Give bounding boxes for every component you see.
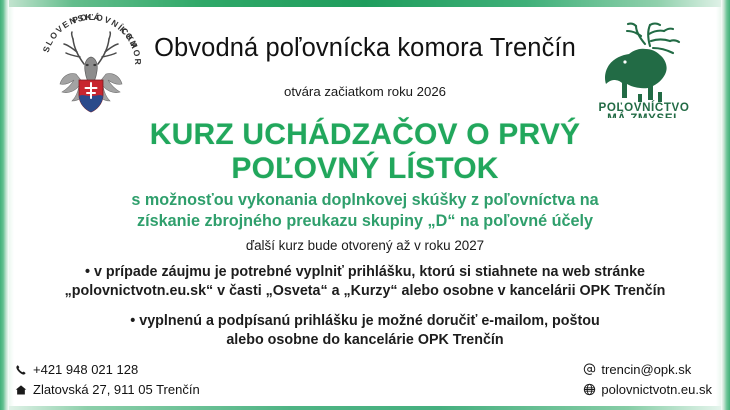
- bullet-1-line-1: • v prípade záujmu je potrebné vyplniť p…: [14, 263, 716, 282]
- polovnictvo-ma-zmysel-logo: POĽOVNÍCTVO MÁ ZMYSEL: [584, 14, 704, 118]
- headline-line-1: KURZ UCHÁDZAČOV O PRVÝ: [150, 118, 581, 151]
- organization-title: Obvodná poľovnícka komora Trenčín: [0, 34, 730, 62]
- slovak-hunting-chamber-logo: SLOVENSKÁ POĽOVNÍCKA KOMORA: [32, 12, 150, 116]
- bullet-2-line-1: • vyplnenú a podpísanú prihlášku je možn…: [14, 312, 716, 331]
- organization-subtitle: otvára začiatkom roku 2026: [0, 84, 730, 99]
- next-course-notice: ďalší kurz bude otvorený až v roku 2027: [0, 238, 730, 253]
- headline: KURZ UCHÁDZAČOV O PRVÝ POĽOVNÝ LÍSTOK: [0, 118, 730, 186]
- home-icon: [14, 383, 28, 397]
- bullet-1-line-2: „polovnictvotn.eu.sk“ v časti „Osveta“ a…: [14, 282, 716, 301]
- frame-inner-right: [716, 7, 721, 406]
- frame-border-left: [0, 0, 9, 410]
- poster-content: SLOVENSKÁ POĽOVNÍCKA KOMORA: [0, 0, 730, 410]
- address: Zlatovská 27, 911 05 Trenčín: [33, 380, 200, 400]
- website-address: polovnictvotn.eu.sk: [601, 380, 712, 400]
- contact-info-right: trencin@opk.sk polovnictvotn.eu.sk: [582, 360, 712, 400]
- chamber-emblem-icon: SLOVENSKÁ POĽOVNÍCKA KOMORA: [32, 12, 150, 116]
- subtitle-line-2: získanie zbrojného preukazu skupiny „D“ …: [0, 211, 730, 232]
- subtitle-line-1: s možnosťou vykonania doplnkovej skúšky …: [0, 190, 730, 211]
- phone-number: +421 948 021 128: [33, 360, 138, 380]
- poster-canvas: SLOVENSKÁ POĽOVNÍCKA KOMORA: [0, 0, 730, 410]
- globe-icon: [582, 383, 596, 397]
- frame-inner-left: [9, 7, 14, 406]
- bullet-2-line-2: alebo osobne do kancelárie OPK Trenčín: [14, 331, 716, 350]
- frame-border-top: [0, 0, 730, 7]
- frame-border-bottom: [0, 406, 730, 410]
- contact-website-row[interactable]: polovnictvotn.eu.sk: [582, 380, 712, 400]
- phone-icon: [14, 363, 28, 377]
- contact-info-left: +421 948 021 128 Zlatovská 27, 911 05 Tr…: [14, 360, 200, 400]
- contact-phone-row: +421 948 021 128: [14, 360, 200, 380]
- frame-border-right: [721, 0, 730, 410]
- contact-email-row[interactable]: trencin@opk.sk: [582, 360, 712, 380]
- bullet-paragraph-2: • vyplnenú a podpísanú prihlášku je možn…: [14, 312, 716, 350]
- stag-logo-icon: POĽOVNÍCTVO MÁ ZMYSEL: [584, 14, 704, 118]
- subtitle: s možnosťou vykonania doplnkovej skúšky …: [0, 190, 730, 231]
- headline-line-2: POĽOVNÝ LÍSTOK: [0, 152, 730, 186]
- email-address: trencin@opk.sk: [601, 360, 691, 380]
- contact-address-row: Zlatovská 27, 911 05 Trenčín: [14, 380, 200, 400]
- bullet-paragraph-1: • v prípade záujmu je potrebné vyplniť p…: [14, 263, 716, 301]
- at-sign-icon: [582, 363, 596, 377]
